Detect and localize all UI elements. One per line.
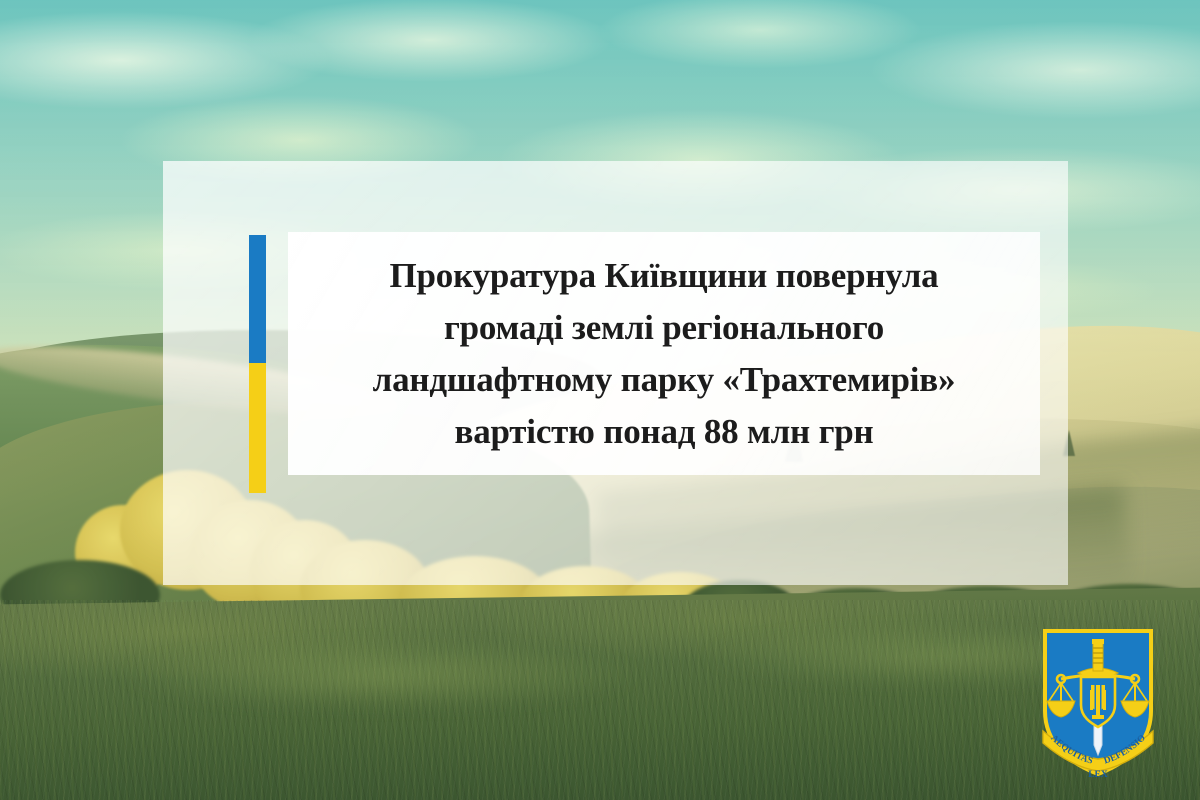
poster-root: Прокуратура Київщини повернула громаді з…: [0, 0, 1200, 800]
flag-bar-blue-segment: [249, 235, 266, 363]
sword-pommel-icon: [1092, 639, 1104, 644]
prosecutor-office-emblem: AEQUITAS DEFENSIO LEX: [1041, 627, 1155, 779]
emblem-motto-center: LEX: [1088, 770, 1108, 779]
headline-line-1: Прокуратура Київщини повернула: [390, 250, 939, 302]
flag-bar-yellow-segment: [249, 363, 266, 493]
ukraine-flag-accent-bar: [249, 235, 266, 493]
sword-grip-icon: [1093, 643, 1103, 671]
headline-text: Прокуратура Київщини повернула громаді з…: [288, 236, 1040, 472]
headline-line-3: ландшафтному парку «Трахтемирів»: [373, 354, 956, 406]
headline-line-4: вартістю понад 88 млн грн: [455, 406, 874, 458]
headline-line-2: громаді землі регіонального: [444, 302, 884, 354]
